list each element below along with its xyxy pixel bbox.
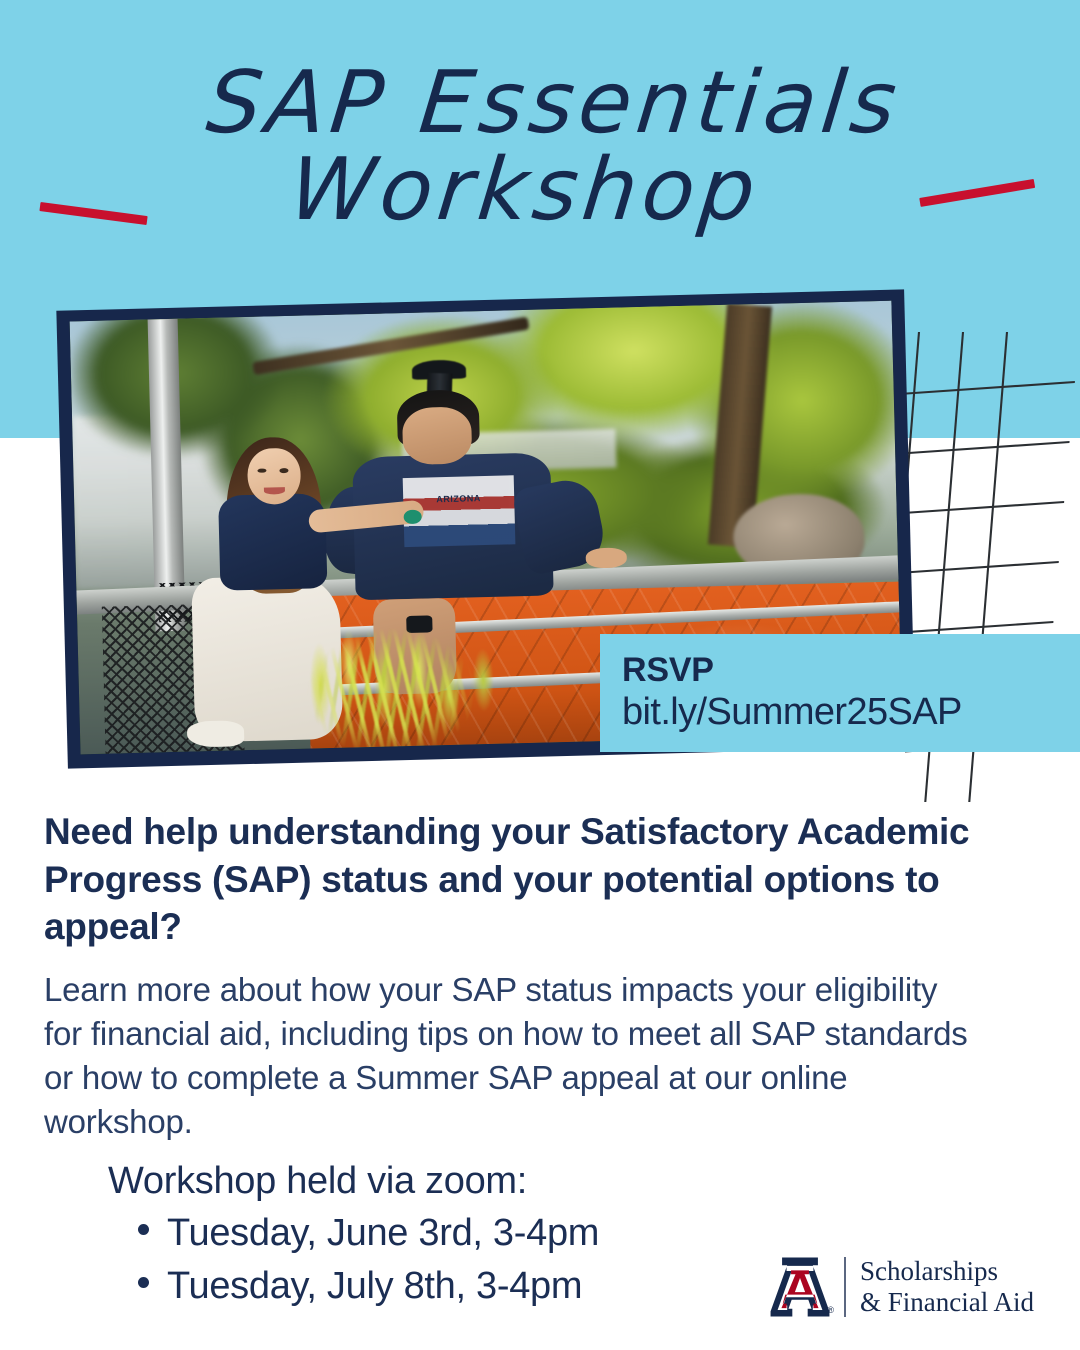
photo-student-male-head <box>402 407 472 465</box>
description-text: Learn more about how your SAP status imp… <box>44 968 984 1144</box>
rsvp-link[interactable]: bit.ly/Summer25SAP <box>622 691 1080 734</box>
session-date: Tuesday, June 3rd, 3-4pm <box>167 1212 599 1255</box>
zoom-heading: Workshop held via zoom: <box>108 1160 527 1203</box>
logo-wordmark-line-2: & Financial Aid <box>860 1287 1034 1318</box>
session-date: Tuesday, July 8th, 3-4pm <box>167 1265 582 1308</box>
list-item: Tuesday, June 3rd, 3-4pm <box>138 1212 599 1255</box>
logo-wordmark: Scholarships & Financial Aid <box>860 1256 1034 1318</box>
list-item: Tuesday, July 8th, 3-4pm <box>138 1265 599 1308</box>
lede-text: Need help understanding your Satisfactor… <box>44 808 1030 951</box>
flyer-canvas: SAP Essentials Workshop <box>0 0 1080 1350</box>
bullet-icon <box>138 1224 149 1235</box>
photo-student-female-shoe <box>187 720 245 747</box>
photo-student-male-hand <box>585 548 627 569</box>
arizona-block-a-icon: ® <box>768 1255 832 1319</box>
university-logo: ® Scholarships & Financial Aid <box>768 1248 1040 1326</box>
rsvp-label: RSVP <box>622 652 1080 689</box>
photo-student-female-top <box>218 493 327 591</box>
photo-student-female-mouth <box>264 487 286 494</box>
photo-foreground-plant-blades <box>299 614 483 754</box>
logo-divider <box>844 1257 846 1317</box>
rsvp-callout[interactable]: RSVP bit.ly/Summer25SAP <box>600 634 1080 752</box>
bullet-icon <box>138 1277 149 1288</box>
session-date-list: Tuesday, June 3rd, 3-4pm Tuesday, July 8… <box>138 1212 599 1318</box>
photo-student-female-eye-right <box>279 468 288 473</box>
logo-wordmark-line-1: Scholarships <box>860 1256 1034 1287</box>
registered-trademark-icon: ® <box>827 1305 834 1315</box>
